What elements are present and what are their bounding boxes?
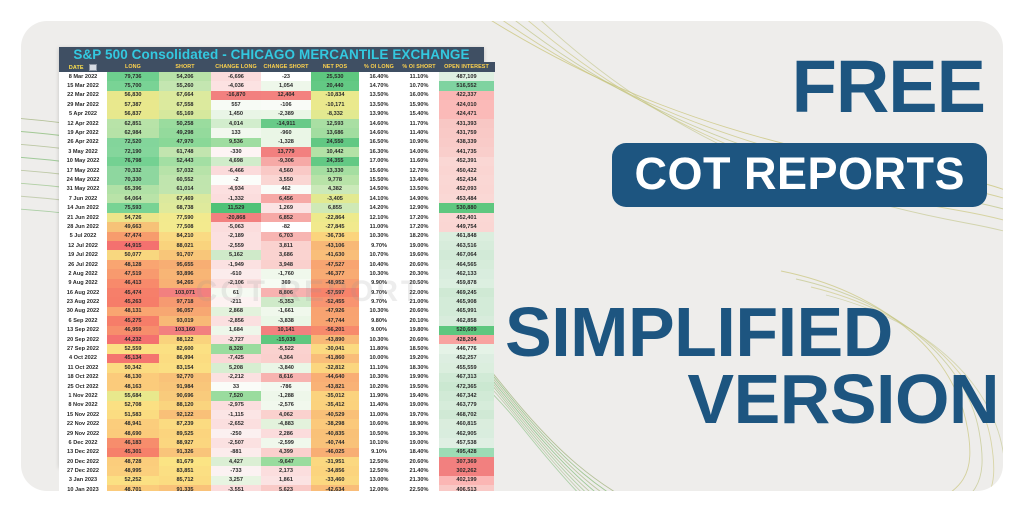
cell-short: 65,169 (159, 110, 211, 119)
table-row[interactable]: 25 Oct 202248,16391,98433-786-43,82110.2… (59, 382, 494, 391)
column-header-open-interest[interactable]: OPEN INTEREST (439, 62, 494, 72)
cell-oi-long: 11.00% (359, 222, 399, 231)
cell-oi-short: 16.00% (399, 91, 439, 100)
table-row[interactable]: 27 Dec 202248,99583,851-7332,173-34,8561… (59, 466, 494, 475)
cell-oi-short: 13.50% (399, 185, 439, 194)
table-row[interactable]: 20 Dec 202248,72881,6794,427-9,647-31,95… (59, 457, 494, 466)
promo-cot-reports-label: COT REPORTS (634, 151, 965, 196)
cell-open-interest: 467,064 (439, 250, 494, 259)
cell-change-long: -5,063 (211, 222, 261, 231)
table-row[interactable]: 11 Oct 202250,34283,1545,208-3,840-32,81… (59, 363, 494, 372)
cell-long: 72,520 (107, 138, 159, 147)
cell-change-short: 1,054 (261, 81, 311, 90)
cell-net-pos: -30,041 (311, 344, 359, 353)
cell-open-interest: 465,991 (439, 307, 494, 316)
cell-date: 28 Jun 2022 (59, 222, 107, 231)
cell-change-short: -106 (261, 100, 311, 109)
column-header-change-long[interactable]: CHANGE LONG (211, 62, 261, 72)
cell-change-short: -9,647 (261, 457, 311, 466)
cell-oi-short: 19.80% (399, 326, 439, 335)
cell-long: 46,413 (107, 279, 159, 288)
cell-date: 22 Mar 2022 (59, 91, 107, 100)
cell-long: 48,130 (107, 373, 159, 382)
cell-oi-short: 21.40% (399, 466, 439, 475)
cell-oi-long: 9.70% (359, 297, 399, 306)
cell-change-short: -1,288 (261, 391, 311, 400)
cell-short: 67,558 (159, 100, 211, 109)
cell-oi-long: 10.20% (359, 382, 399, 391)
cell-change-long: 33 (211, 382, 261, 391)
cell-short: 92,770 (159, 373, 211, 382)
table-row[interactable]: 26 Jul 202248,12895,655-1,9493,948-47,52… (59, 260, 494, 269)
cell-long: 50,077 (107, 250, 159, 259)
cell-oi-short: 20.50% (399, 279, 439, 288)
cell-long: 54,726 (107, 213, 159, 222)
table-row[interactable]: 18 Oct 202248,13092,770-2,2128,616-44,64… (59, 373, 494, 382)
cell-change-long: -4,934 (211, 185, 261, 194)
cell-short: 91,335 (159, 485, 211, 491)
cell-oi-long: 10.30% (359, 335, 399, 344)
cell-oi-long: 14.10% (359, 194, 399, 203)
cell-net-pos: -35,012 (311, 391, 359, 400)
cell-change-long: 133 (211, 128, 261, 137)
cell-change-long: 61 (211, 288, 261, 297)
cell-open-interest: 452,434 (439, 175, 494, 184)
cell-oi-long: 10.50% (359, 429, 399, 438)
table-row[interactable]: 15 Nov 202251,58392,122-1,1154,062-40,52… (59, 410, 494, 419)
cell-change-long: -2,189 (211, 232, 261, 241)
cell-change-long: -211 (211, 297, 261, 306)
table-row[interactable]: 20 Sep 202244,23288,122-2,727-15,038-43,… (59, 335, 494, 344)
cell-change-short: 1,861 (261, 476, 311, 485)
cell-net-pos: -34,856 (311, 466, 359, 475)
table-row[interactable]: 29 Nov 202248,69089,525-2502,286-40,8351… (59, 429, 494, 438)
cell-oi-long: 14.50% (359, 185, 399, 194)
cell-short: 89,525 (159, 429, 211, 438)
cell-change-short: 4,062 (261, 410, 311, 419)
cell-net-pos: -47,926 (311, 307, 359, 316)
cell-net-pos: 13,686 (311, 128, 359, 137)
cell-long: 46,959 (107, 326, 159, 335)
cell-date: 17 May 2022 (59, 166, 107, 175)
table-row[interactable]: 24 May 202270,33060,552-23,5509,77815.50… (59, 175, 494, 184)
cell-long: 56,837 (107, 110, 159, 119)
table-row[interactable]: 22 Mar 202256,83067,664-16,87012,404-10,… (59, 91, 494, 100)
cell-date: 29 Mar 2022 (59, 100, 107, 109)
cell-net-pos: -52,455 (311, 297, 359, 306)
cell-change-long: -6,466 (211, 166, 261, 175)
cell-long: 48,131 (107, 307, 159, 316)
cell-oi-short: 12.90% (399, 203, 439, 212)
cell-open-interest: 520,609 (439, 326, 494, 335)
cell-oi-long: 11.80% (359, 344, 399, 353)
cell-open-interest: 422,337 (439, 91, 494, 100)
cell-short: 93,896 (159, 269, 211, 278)
cell-open-interest: 431,759 (439, 128, 494, 137)
cell-oi-short: 22.50% (399, 485, 439, 491)
cell-change-short: -4,883 (261, 419, 311, 428)
cell-oi-long: 13.00% (359, 476, 399, 485)
cell-change-long: -3,551 (211, 485, 261, 491)
cell-oi-short: 11.10% (399, 72, 439, 81)
table-row[interactable]: 19 Apr 202262,98449,298133-96013,68614.6… (59, 128, 494, 137)
cell-open-interest: 461,848 (439, 232, 494, 241)
cell-open-interest: 307,369 (439, 457, 494, 466)
table-row[interactable]: 3 May 202272,19061,748-33013,77910,44216… (59, 147, 494, 156)
cell-date: 11 Oct 2022 (59, 363, 107, 372)
cell-change-short: -5,353 (261, 297, 311, 306)
poster-stage: S&P 500 Consolidated - CHICAGO MERCANTIL… (0, 0, 1024, 512)
cell-net-pos: 24,550 (311, 138, 359, 147)
cell-long: 65,396 (107, 185, 159, 194)
cell-net-pos: 20,440 (311, 81, 359, 90)
table-row[interactable]: 10 May 202276,79852,4434,698-9,30624,355… (59, 157, 494, 166)
cell-open-interest: 428,204 (439, 335, 494, 344)
cell-change-short: 8,616 (261, 373, 311, 382)
cell-long: 75,700 (107, 81, 159, 90)
cell-date: 10 May 2022 (59, 157, 107, 166)
cell-date: 5 Apr 2022 (59, 110, 107, 119)
cell-long: 55,684 (107, 391, 159, 400)
cell-oi-short: 19.70% (399, 410, 439, 419)
promo-panel: FREE COT REPORTS SIMPLIFIED VERSION (501, 21, 1003, 491)
cell-change-long: -6,696 (211, 72, 261, 81)
cell-open-interest: 462,858 (439, 316, 494, 325)
cell-oi-short: 22.00% (399, 288, 439, 297)
cell-oi-long: 12.10% (359, 213, 399, 222)
cell-change-short: 4,560 (261, 166, 311, 175)
cell-open-interest: 459,878 (439, 279, 494, 288)
cell-short: 50,258 (159, 119, 211, 128)
cell-net-pos: 12,593 (311, 119, 359, 128)
table-row[interactable]: 23 Aug 202245,26397,718-211-5,353-52,455… (59, 297, 494, 306)
cell-change-long: -250 (211, 429, 261, 438)
cell-change-short: -15,038 (261, 335, 311, 344)
cell-open-interest: 460,815 (439, 419, 494, 428)
column-header-oi-short[interactable]: % OI SHORT (399, 62, 439, 72)
cell-oi-long: 10.60% (359, 419, 399, 428)
cell-oi-short: 19.60% (399, 250, 439, 259)
cell-change-long: -2,507 (211, 438, 261, 447)
cell-oi-long: 16.40% (359, 72, 399, 81)
table-row[interactable]: 26 Apr 202272,52047,9709,536-1,32824,550… (59, 138, 494, 147)
cell-short: 103,071 (159, 288, 211, 297)
table-row[interactable]: 16 Aug 202245,474103,071618,806-57,5979.… (59, 288, 494, 297)
cell-net-pos: -40,744 (311, 438, 359, 447)
cell-date: 13 Sep 2022 (59, 326, 107, 335)
cell-net-pos: -43,821 (311, 382, 359, 391)
cell-net-pos: -35,412 (311, 401, 359, 410)
table-header-row: DATE LONG SHORT CHANGE LONG CHANGE SHORT… (59, 62, 494, 72)
cell-net-pos: 24,355 (311, 157, 359, 166)
cell-oi-long: 11.00% (359, 410, 399, 419)
table-row[interactable]: 5 Apr 202256,83765,1691,450-2,389-8,3321… (59, 110, 494, 119)
cell-oi-long: 16.30% (359, 147, 399, 156)
cell-open-interest: 449,754 (439, 222, 494, 231)
table-row[interactable]: 15 Mar 202275,70055,260-4,0361,05420,440… (59, 81, 494, 90)
cell-oi-short: 18.40% (399, 448, 439, 457)
cell-long: 48,728 (107, 457, 159, 466)
cell-long: 44,915 (107, 241, 159, 250)
table-row[interactable]: 19 Jul 202250,07791,7075,1623,686-41,630… (59, 250, 494, 259)
column-header-date[interactable]: DATE (59, 62, 107, 72)
cell-long: 76,798 (107, 157, 159, 166)
table-row[interactable]: 31 May 202265,39661,014-4,9344624,38214.… (59, 185, 494, 194)
cell-short: 91,984 (159, 382, 211, 391)
cell-short: 90,696 (159, 391, 211, 400)
cell-oi-short: 17.20% (399, 222, 439, 231)
cell-open-interest: 402,199 (439, 476, 494, 485)
table-row[interactable]: 8 Nov 202252,70888,120-2,975-2,576-35,41… (59, 401, 494, 410)
cell-long: 79,736 (107, 72, 159, 81)
cell-short: 87,239 (159, 419, 211, 428)
cell-long: 56,830 (107, 91, 159, 100)
column-header-short[interactable]: SHORT (159, 62, 211, 72)
cell-oi-long: 10.30% (359, 269, 399, 278)
cell-long: 52,708 (107, 401, 159, 410)
table-row[interactable]: 6 Sep 202245,27593,019-2,856-3,838-47,74… (59, 316, 494, 325)
cell-long: 45,301 (107, 448, 159, 457)
cell-oi-short: 20.30% (399, 269, 439, 278)
cell-oi-short: 19.30% (399, 429, 439, 438)
cell-open-interest: 464,565 (439, 260, 494, 269)
table-row[interactable]: 14 Jun 202275,59368,73811,5291,2696,8551… (59, 203, 494, 212)
cell-oi-short: 11.70% (399, 119, 439, 128)
cell-oi-short: 12.70% (399, 166, 439, 175)
cell-change-short: 3,550 (261, 175, 311, 184)
table-row[interactable]: 13 Sep 202246,959103,1601,68410,141-56,2… (59, 326, 494, 335)
cell-short: 49,298 (159, 128, 211, 137)
cell-oi-short: 15.40% (399, 110, 439, 119)
cell-change-long: -7,425 (211, 354, 261, 363)
filter-icon[interactable] (89, 64, 97, 71)
cell-open-interest: 455,559 (439, 363, 494, 372)
cell-short: 83,154 (159, 363, 211, 372)
cell-long: 52,559 (107, 344, 159, 353)
cell-net-pos: -46,025 (311, 448, 359, 457)
promo-simplified-line2: VERSION (505, 366, 1003, 433)
table-row[interactable]: 27 Sep 202252,55982,6008,328-5,522-30,04… (59, 344, 494, 353)
cell-net-pos: 13,330 (311, 166, 359, 175)
cell-date: 14 Jun 2022 (59, 203, 107, 212)
cell-long: 75,593 (107, 203, 159, 212)
column-header-net-pos[interactable]: NET POS (311, 62, 359, 72)
cell-change-short: -14,911 (261, 119, 311, 128)
cell-long: 62,984 (107, 128, 159, 137)
cell-oi-short: 18.50% (399, 344, 439, 353)
cell-date: 15 Nov 2022 (59, 410, 107, 419)
cell-oi-short: 21.00% (399, 297, 439, 306)
cell-oi-long: 11.10% (359, 363, 399, 372)
cell-date: 27 Sep 2022 (59, 344, 107, 353)
cell-oi-short: 14.00% (399, 147, 439, 156)
cell-long: 45,263 (107, 297, 159, 306)
cell-change-long: -2,559 (211, 241, 261, 250)
cell-oi-long: 12.00% (359, 485, 399, 491)
cell-long: 46,183 (107, 438, 159, 447)
cell-change-short: 369 (261, 279, 311, 288)
cell-net-pos: -10,834 (311, 91, 359, 100)
cell-change-short: 13,779 (261, 147, 311, 156)
table-row[interactable]: 6 Dec 202246,18388,927-2,507-2,599-40,74… (59, 438, 494, 447)
cell-oi-short: 19.00% (399, 401, 439, 410)
cell-open-interest: 424,010 (439, 100, 494, 109)
cell-change-long: 8,328 (211, 344, 261, 353)
cell-date: 1 Nov 2022 (59, 391, 107, 400)
cell-change-short: 3,948 (261, 260, 311, 269)
cell-date: 29 Nov 2022 (59, 429, 107, 438)
cell-short: 96,057 (159, 307, 211, 316)
table-row[interactable]: 4 Oct 202245,13486,994-7,4254,364-41,860… (59, 354, 494, 363)
cell-change-short: -960 (261, 128, 311, 137)
cell-change-short: -2,599 (261, 438, 311, 447)
promo-free-heading: FREE (792, 53, 985, 121)
cell-date: 26 Apr 2022 (59, 138, 107, 147)
column-header-change-short[interactable]: CHANGE SHORT (261, 62, 311, 72)
cell-short: 95,655 (159, 260, 211, 269)
table-row[interactable]: 12 Jul 202244,91588,021-2,5593,811-43,10… (59, 241, 494, 250)
table-row[interactable]: 2 Aug 202247,51993,896-610-1,760-46,3771… (59, 269, 494, 278)
table-row[interactable]: 1 Nov 202255,68490,6967,520-1,288-35,012… (59, 391, 494, 400)
cell-long: 70,332 (107, 166, 159, 175)
cell-open-interest: 467,313 (439, 373, 494, 382)
table-row[interactable]: 3 Jan 202352,25285,7123,2571,861-33,4601… (59, 476, 494, 485)
cell-net-pos: -10,171 (311, 100, 359, 109)
cell-oi-long: 10.70% (359, 250, 399, 259)
table-row[interactable]: 22 Nov 202248,94187,239-2,652-4,883-38,2… (59, 419, 494, 428)
cell-oi-long: 9.90% (359, 279, 399, 288)
column-header-long[interactable]: LONG (107, 62, 159, 72)
cell-long: 48,701 (107, 485, 159, 491)
table-row[interactable]: 13 Dec 202245,30191,326-8814,399-46,0259… (59, 448, 494, 457)
cell-oi-long: 10.30% (359, 373, 399, 382)
table-row[interactable]: 12 Apr 202262,85150,2584,014-14,91112,59… (59, 119, 494, 128)
table-row[interactable]: 30 Aug 202248,13196,0572,868-1,661-47,92… (59, 307, 494, 316)
cell-oi-short: 18.20% (399, 232, 439, 241)
cell-long: 47,519 (107, 269, 159, 278)
cell-net-pos: -47,527 (311, 260, 359, 269)
cell-short: 85,712 (159, 476, 211, 485)
table-row[interactable]: 21 Jun 202254,72677,590-20,8686,852-22,8… (59, 213, 494, 222)
cell-open-interest: 467,342 (439, 391, 494, 400)
cell-short: 55,260 (159, 81, 211, 90)
cell-long: 52,252 (107, 476, 159, 485)
cell-change-short: 2,286 (261, 429, 311, 438)
cell-date: 6 Dec 2022 (59, 438, 107, 447)
cell-net-pos: -43,890 (311, 335, 359, 344)
cell-change-short: 6,703 (261, 232, 311, 241)
cell-oi-long: 10.00% (359, 354, 399, 363)
cell-date: 24 May 2022 (59, 175, 107, 184)
cell-oi-short: 19.00% (399, 438, 439, 447)
cell-long: 62,851 (107, 119, 159, 128)
cell-change-long: 1,684 (211, 326, 261, 335)
cell-oi-long: 13.50% (359, 100, 399, 109)
cell-date: 30 Aug 2022 (59, 307, 107, 316)
cell-net-pos: 10,442 (311, 147, 359, 156)
cell-change-long: 5,162 (211, 250, 261, 259)
cell-change-long: -330 (211, 147, 261, 156)
cell-long: 49,663 (107, 222, 159, 231)
table-row[interactable]: 8 Mar 202279,73654,206-6,696-2325,53016.… (59, 72, 494, 81)
cell-open-interest: 452,093 (439, 185, 494, 194)
cell-oi-short: 20.60% (399, 260, 439, 269)
cell-net-pos: -36,736 (311, 232, 359, 241)
cell-short: 93,019 (159, 316, 211, 325)
cell-oi-long: 9.70% (359, 241, 399, 250)
cell-change-short: 6,852 (261, 213, 311, 222)
cell-change-long: -1,332 (211, 194, 261, 203)
cell-net-pos: -56,201 (311, 326, 359, 335)
cell-change-long: -4,036 (211, 81, 261, 90)
cell-date: 3 Jan 2023 (59, 476, 107, 485)
cell-date: 9 Aug 2022 (59, 279, 107, 288)
cell-change-long: -2,975 (211, 401, 261, 410)
cell-open-interest: 530,880 (439, 203, 494, 212)
cell-change-short: 5,623 (261, 485, 311, 491)
cell-change-short: -9,306 (261, 157, 311, 166)
cell-date: 12 Jul 2022 (59, 241, 107, 250)
cell-oi-long: 10.40% (359, 260, 399, 269)
cell-date: 18 Oct 2022 (59, 373, 107, 382)
cell-open-interest: 446,776 (439, 344, 494, 353)
column-header-oi-long[interactable]: % OI LONG (359, 62, 399, 72)
cell-change-short: 8,806 (261, 288, 311, 297)
table-row[interactable]: 5 Jul 202247,47484,210-2,1896,703-36,736… (59, 232, 494, 241)
cell-date: 13 Dec 2022 (59, 448, 107, 457)
cell-net-pos: 9,778 (311, 175, 359, 184)
table-row[interactable]: 17 May 202270,33257,032-6,4664,56013,330… (59, 166, 494, 175)
cell-net-pos: -40,529 (311, 410, 359, 419)
cell-short: 81,679 (159, 457, 211, 466)
promo-simplified-heading: SIMPLIFIED VERSION (505, 299, 1003, 433)
cell-open-interest: 465,908 (439, 297, 494, 306)
cell-change-short: 12,404 (261, 91, 311, 100)
cell-net-pos: -42,634 (311, 485, 359, 491)
cell-change-long: -2,727 (211, 335, 261, 344)
cell-long: 45,474 (107, 288, 159, 297)
cell-change-short: 3,811 (261, 241, 311, 250)
cell-date: 16 Aug 2022 (59, 288, 107, 297)
cell-oi-long: 14.60% (359, 128, 399, 137)
table-row[interactable]: 28 Jun 202249,66377,508-5,063-82-27,8451… (59, 222, 494, 231)
cell-long: 64,064 (107, 194, 159, 203)
cell-open-interest: 457,538 (439, 438, 494, 447)
cell-change-long: -20,868 (211, 213, 261, 222)
cell-open-interest: 452,401 (439, 213, 494, 222)
cell-short: 68,738 (159, 203, 211, 212)
table-row[interactable]: 10 Jan 202348,70191,335-3,5515,623-42,63… (59, 485, 494, 491)
cell-net-pos: -41,630 (311, 250, 359, 259)
cell-change-short: -82 (261, 222, 311, 231)
cell-oi-short: 19.50% (399, 382, 439, 391)
cell-short: 82,600 (159, 344, 211, 353)
cell-short: 54,206 (159, 72, 211, 81)
promo-cot-reports-badge: COT REPORTS (612, 143, 987, 207)
cell-date: 8 Mar 2022 (59, 72, 107, 81)
cell-change-long: 11,529 (211, 203, 261, 212)
poster-canvas: S&P 500 Consolidated - CHICAGO MERCANTIL… (21, 21, 1003, 491)
cell-oi-short: 19.40% (399, 391, 439, 400)
table-row[interactable]: 29 Mar 202257,38767,558557-106-10,17113.… (59, 100, 494, 109)
cell-oi-long: 10.30% (359, 307, 399, 316)
cell-oi-short: 19.00% (399, 241, 439, 250)
cell-oi-long: 9.80% (359, 316, 399, 325)
table-row[interactable]: 9 Aug 202246,41394,265-2,106369-48,9529.… (59, 279, 494, 288)
cell-date: 20 Dec 2022 (59, 457, 107, 466)
cell-change-short: -2,576 (261, 401, 311, 410)
table-row[interactable]: 7 Jun 202264,06467,469-1,3326,456-3,4051… (59, 194, 494, 203)
